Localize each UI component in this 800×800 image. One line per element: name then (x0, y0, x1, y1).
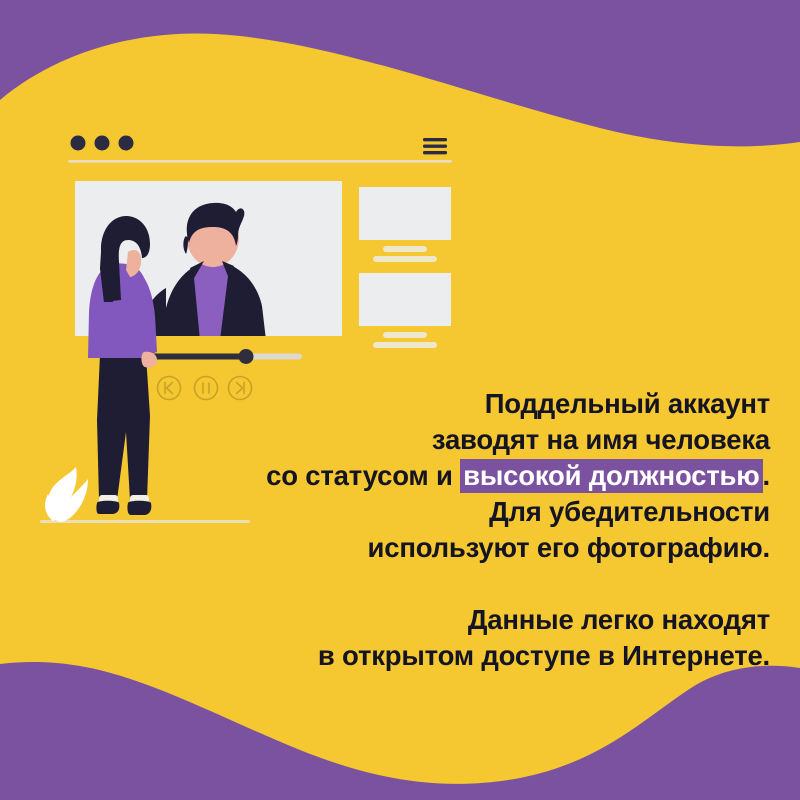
slide-canvas: Поддельный аккаунт заводят на имя челове… (0, 0, 800, 800)
copy-line-3-prefix: со статусом и (266, 460, 460, 491)
copy-line-5: используют его фотографию. (210, 530, 770, 566)
copy-line-6: Данные легко находят (210, 602, 770, 638)
copy-line-3: со статусом и высокой должностью. (210, 458, 770, 494)
copy-line-1: Поддельный аккаунт (210, 386, 770, 422)
copy-line-2: заводят на имя человека (210, 422, 770, 458)
paragraph-2: Данные легко находят в открытом доступе … (210, 602, 770, 674)
main-copy-block: Поддельный аккаунт заводят на имя челове… (210, 386, 770, 674)
paragraph-spacer (210, 566, 770, 602)
highlighted-phrase: высокой должностью (460, 459, 762, 493)
copy-line-3-suffix: . (763, 460, 770, 491)
copy-line-7: в открытом доступе в Интернете. (210, 638, 770, 674)
paragraph-1: Поддельный аккаунт заводят на имя челове… (210, 386, 770, 566)
copy-line-4: Для убедительности (210, 494, 770, 530)
